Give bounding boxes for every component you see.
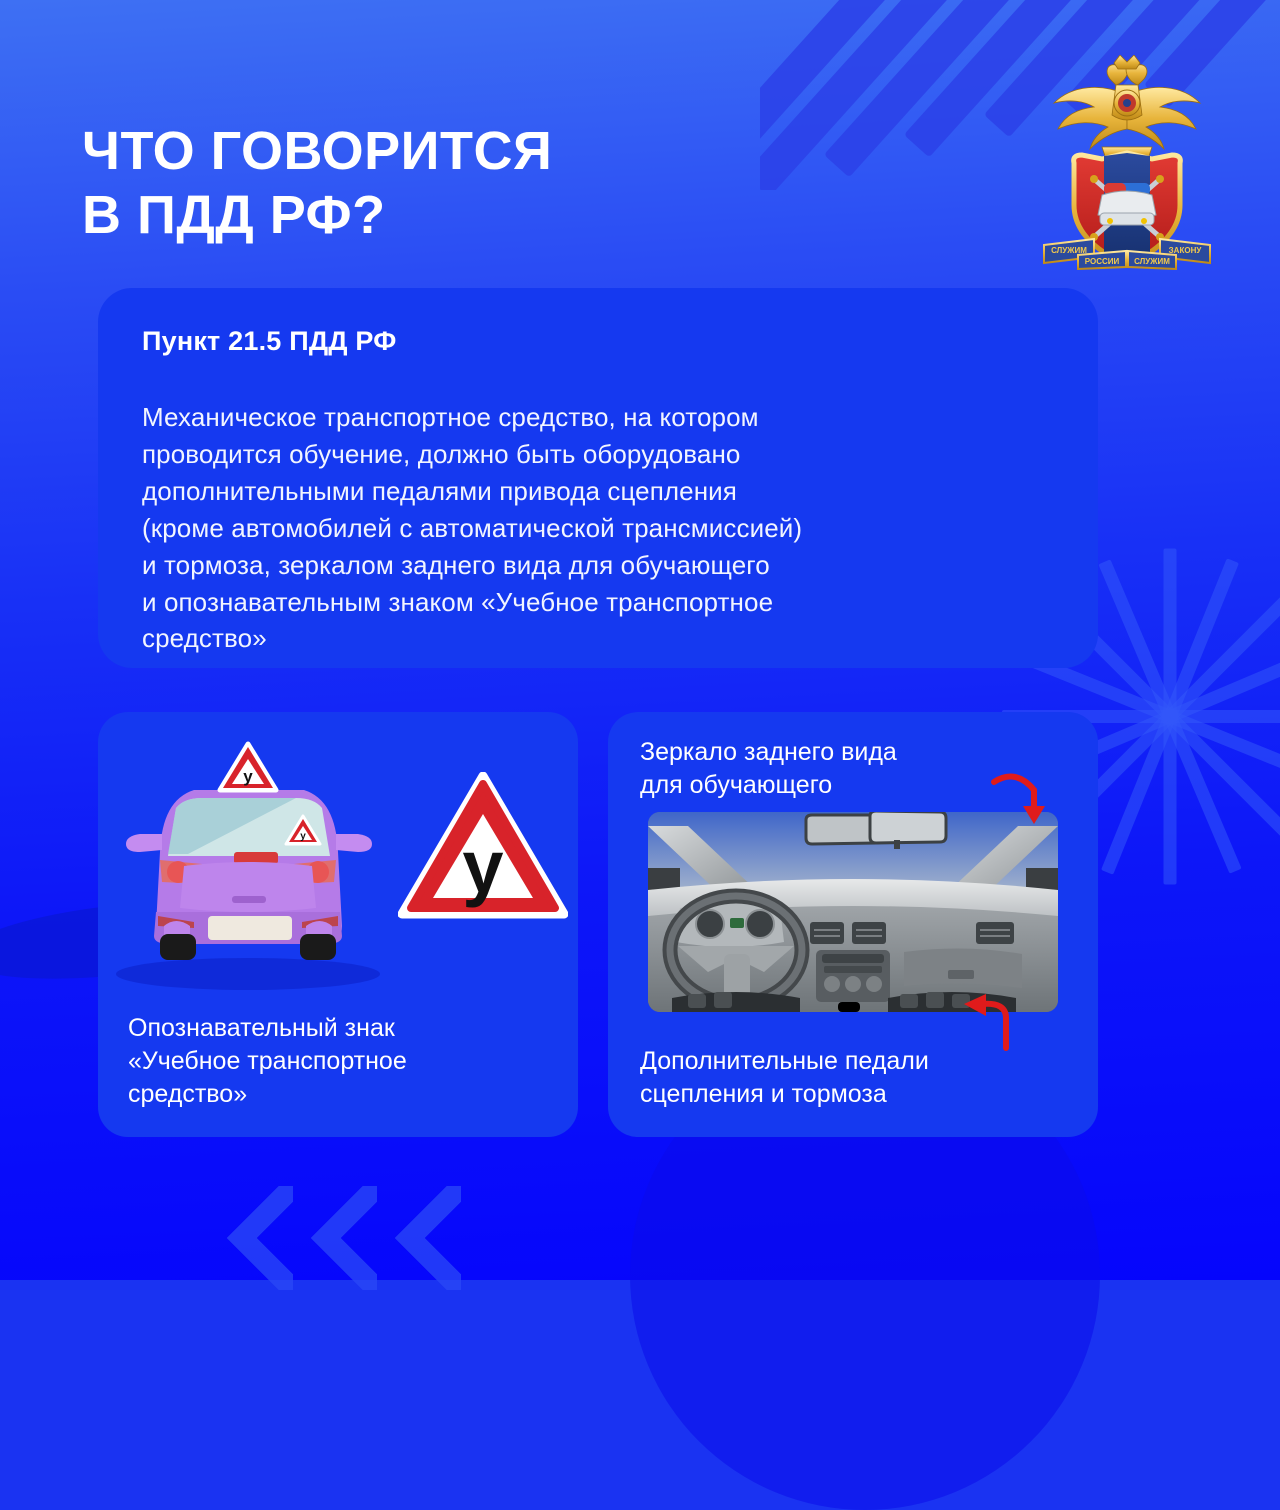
quote-heading: Пункт 21.5 ПДД РФ: [142, 326, 1054, 357]
card-mirror-and-pedals: Зеркало заднего вида для обучающего: [608, 712, 1098, 1137]
left-card-caption: Опознавательный знак «Учебное транспортн…: [128, 1012, 556, 1111]
mvd-emblem-icon: СЛУЖИМ ЗАКОНУ РОССИИ СЛУЖИМ: [1032, 55, 1222, 270]
emblem-motto-part-3: СЛУЖИМ: [1134, 257, 1170, 266]
emblem-motto-part-4: ЗАКОНУ: [1169, 246, 1203, 255]
roof-sign-letter: у: [243, 767, 253, 786]
window-sign-letter: у: [300, 831, 306, 842]
car-dashboard-photo: [648, 812, 1058, 1012]
emblem-motto-part-2: РОССИИ: [1085, 257, 1120, 266]
quote-body-text: Механическое транспортное средство, на к…: [142, 399, 1054, 657]
right-card-caption-pedals: Дополнительные педали сцепления и тормоз…: [640, 1045, 1076, 1111]
card-identification-sign: у у у Опознавательный знак «Учебное тран…: [98, 712, 578, 1137]
poster-root: ЧТО ГОВОРИТСЯ В ПДД РФ?: [0, 0, 1280, 1280]
emblem-motto-part-1: СЛУЖИМ: [1051, 246, 1087, 255]
large-sign-letter: у: [462, 825, 503, 908]
pdd-quote-card: Пункт 21.5 ПДД РФ Механическое транспорт…: [98, 288, 1098, 668]
page-title: ЧТО ГОВОРИТСЯ В ПДД РФ?: [82, 120, 552, 247]
right-card-caption-mirror: Зеркало заднего вида для обучающего: [640, 736, 1076, 802]
training-vehicle-sign-large: у: [398, 772, 568, 922]
